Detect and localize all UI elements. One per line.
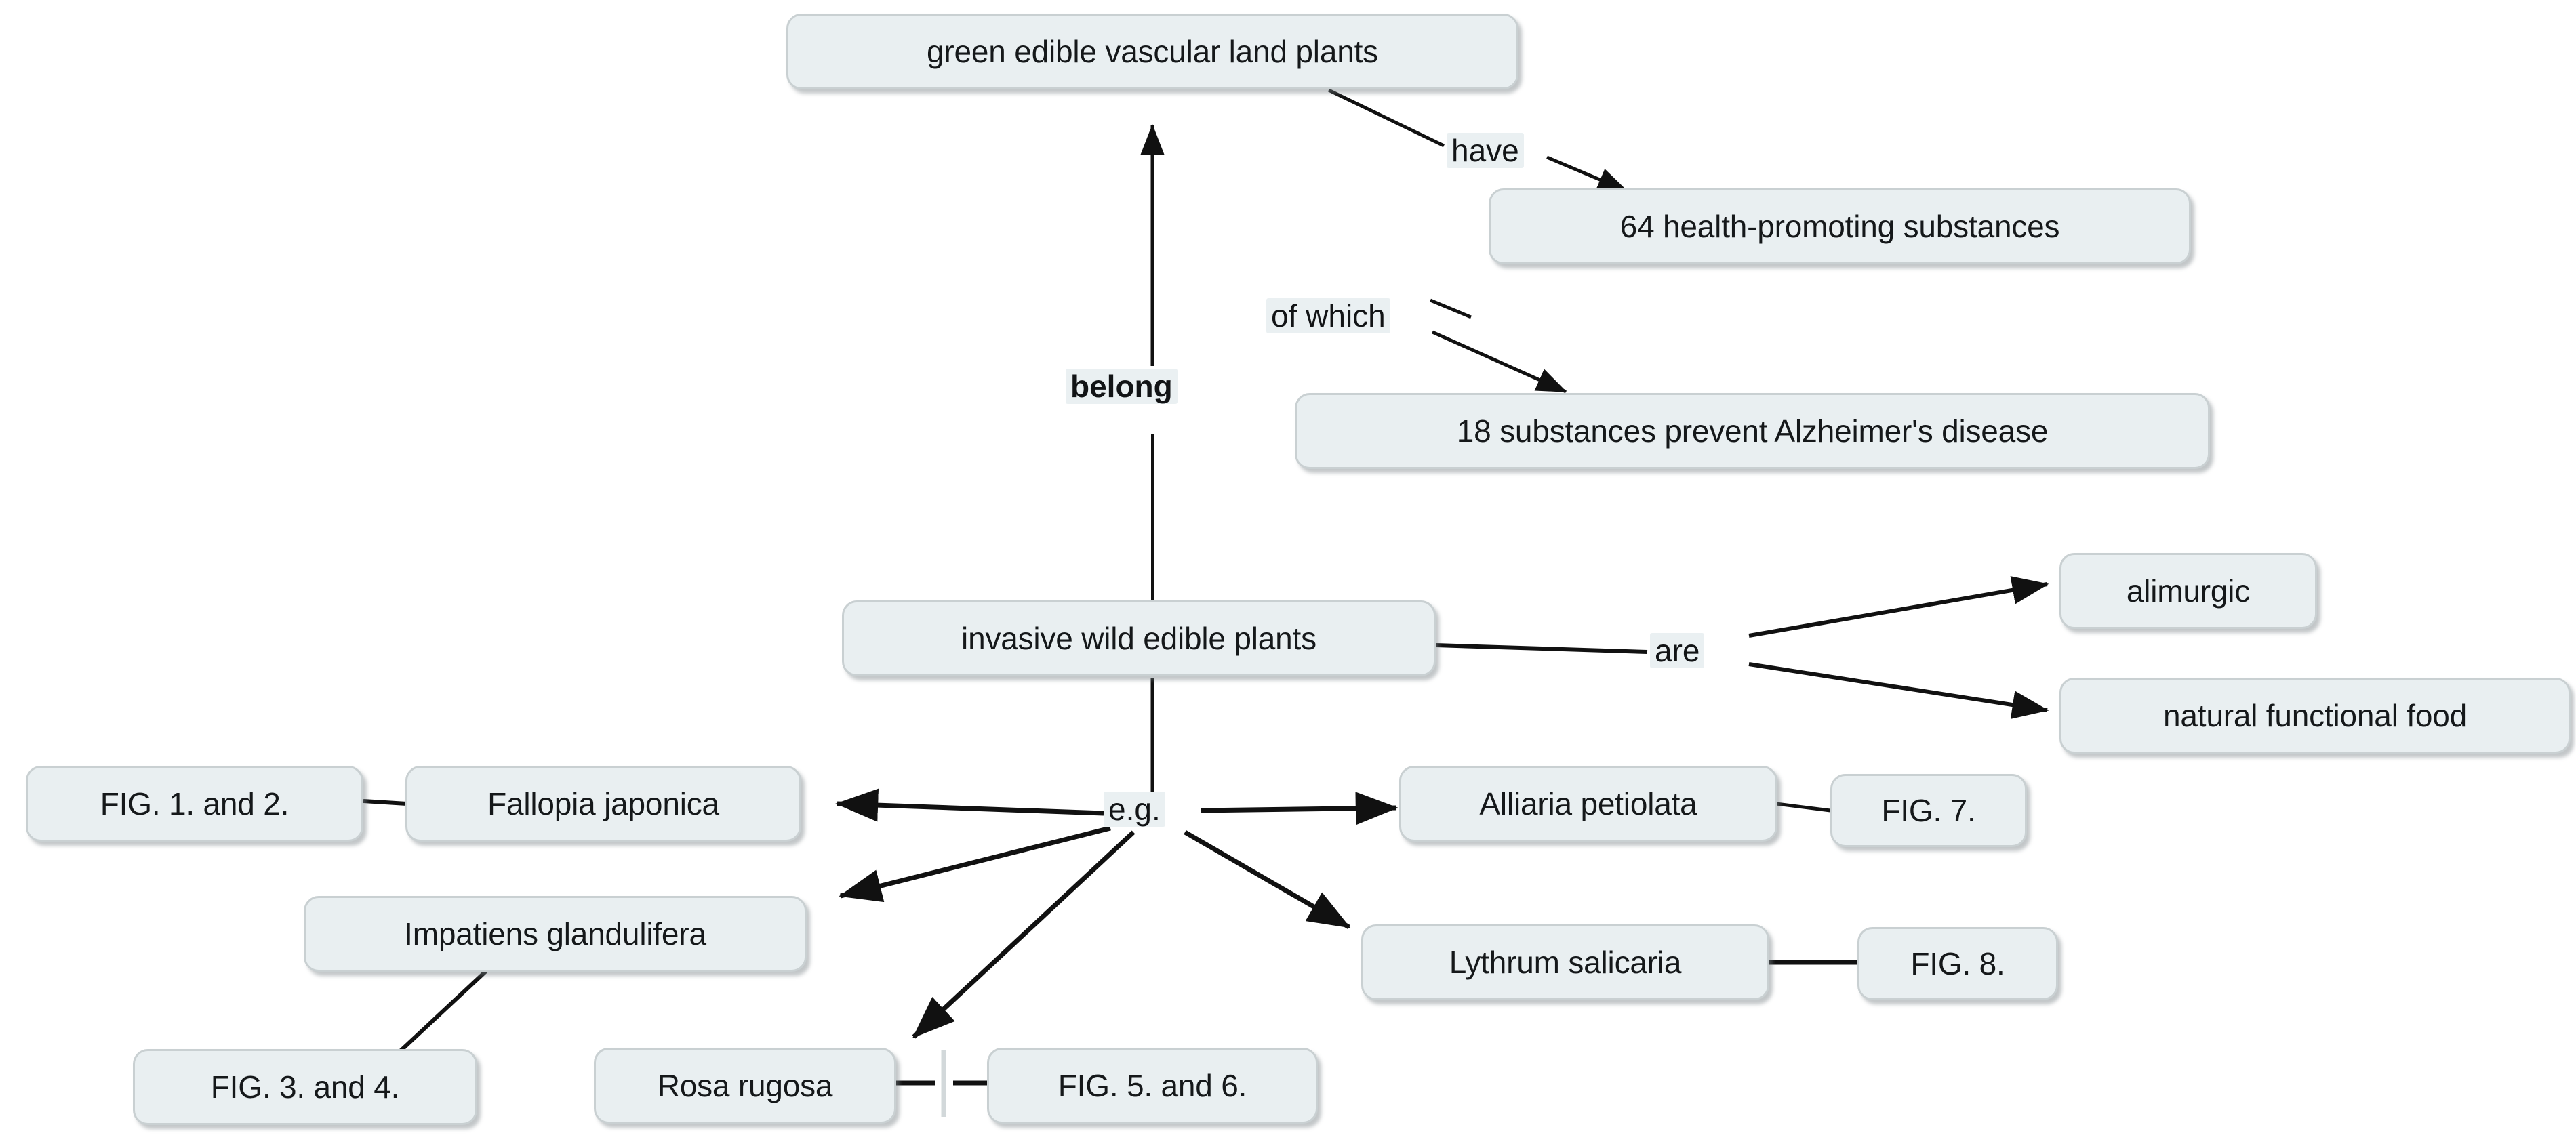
node-label: Lythrum salicaria <box>1449 944 1682 981</box>
edge-alliaria-fig7 <box>1776 804 1830 811</box>
edge-label-text: are <box>1655 633 1699 668</box>
node-label: FIG. 3. and 4. <box>211 1069 399 1105</box>
edge-of-which <box>1430 300 1566 392</box>
node-label: invasive wild edible plants <box>961 620 1316 657</box>
edge-label-of-which: of which <box>1266 298 1390 333</box>
edge-label-text: e.g. <box>1108 792 1161 827</box>
node-green-plants[interactable]: green edible vascular land plants <box>786 14 1518 89</box>
node-fig-8[interactable]: FIG. 8. <box>1857 927 2058 1000</box>
node-alimurgic[interactable]: alimurgic <box>2059 553 2317 629</box>
node-label: green edible vascular land plants <box>927 33 1378 70</box>
edge-eg-alliaria <box>1201 808 1396 811</box>
edge-eg-lythrum <box>1185 832 1349 927</box>
node-fallopia-japonica[interactable]: Fallopia japonica <box>405 766 801 842</box>
node-alliaria-petiolata[interactable]: Alliaria petiolata <box>1399 766 1777 842</box>
node-label: 18 substances prevent Alzheimer's diseas… <box>1457 413 2049 449</box>
node-impatiens-glandulifera[interactable]: Impatiens glandulifera <box>304 896 807 972</box>
node-fig-3-4[interactable]: FIG. 3. and 4. <box>133 1049 477 1125</box>
edge-eg-fallopia <box>837 804 1104 813</box>
node-label: alimurgic <box>2127 573 2250 609</box>
edge-eg-rosa <box>914 832 1133 1037</box>
edge-label-text: belong <box>1070 369 1173 404</box>
node-substances-18[interactable]: 18 substances prevent Alzheimer's diseas… <box>1295 393 2210 469</box>
edge-label-eg: e.g. <box>1104 792 1165 827</box>
edge-label-have: have <box>1447 133 1524 168</box>
node-label: natural functional food <box>2163 697 2467 734</box>
node-label: Alliaria petiolata <box>1479 785 1697 822</box>
node-label: Rosa rugosa <box>658 1067 833 1104</box>
edge-label-text: have <box>1451 133 1519 168</box>
node-fig-5-6[interactable]: FIG. 5. and 6. <box>987 1048 1318 1124</box>
node-fig-1-2[interactable]: FIG. 1. and 2. <box>26 766 363 842</box>
node-fig-7[interactable]: FIG. 7. <box>1830 774 2027 847</box>
edge-fallopia-fig12 <box>363 801 407 804</box>
node-invasive-plants[interactable]: invasive wild edible plants <box>842 600 1436 676</box>
node-label: Impatiens glandulifera <box>404 916 706 952</box>
concept-map-canvas: green edible vascular land plants 64 hea… <box>0 0 2576 1148</box>
node-label: FIG. 7. <box>1881 792 1975 829</box>
edge-rosa-fig56 <box>895 1050 988 1117</box>
node-rosa-rugosa[interactable]: Rosa rugosa <box>594 1048 896 1124</box>
node-substances-64[interactable]: 64 health-promoting substances <box>1489 188 2191 264</box>
edge-label-text: of which <box>1271 298 1386 333</box>
node-label: FIG. 8. <box>1910 945 2005 982</box>
edge-are <box>1436 584 2047 710</box>
node-lythrum-salicaria[interactable]: Lythrum salicaria <box>1361 924 1769 1000</box>
edge-label-are: are <box>1650 633 1704 668</box>
node-natural-functional-food[interactable]: natural functional food <box>2059 678 2571 754</box>
edge-label-belong: belong <box>1066 369 1178 404</box>
node-label: 64 health-promoting substances <box>1620 208 2060 245</box>
node-label: Fallopia japonica <box>487 785 719 822</box>
edge-eg-impatiens <box>841 828 1110 896</box>
node-label: FIG. 1. and 2. <box>100 785 289 822</box>
node-label: FIG. 5. and 6. <box>1058 1067 1247 1104</box>
